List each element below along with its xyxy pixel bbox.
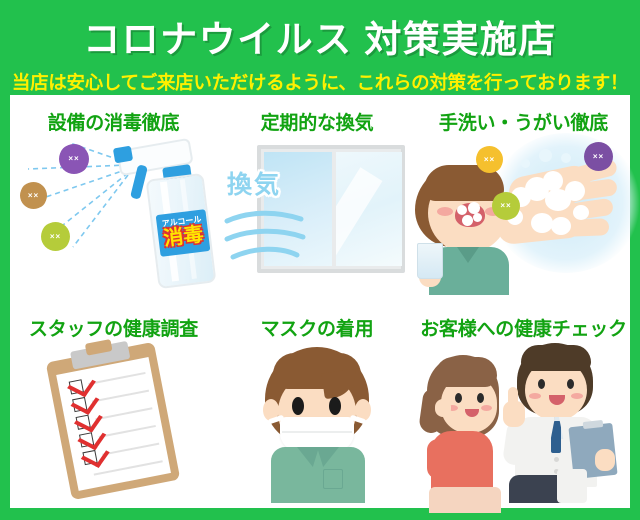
section-title-disinfection: 設備の消毒徹底 <box>10 108 217 135</box>
illustration-woman-and-doctor <box>417 343 630 503</box>
doctor-fringe <box>521 345 591 371</box>
germ-green-hand: ×× <box>495 195 517 217</box>
illustration-window: 換気 <box>217 137 417 297</box>
paper-line <box>95 407 152 420</box>
person-shirt <box>271 447 365 503</box>
foam-float-2 <box>561 153 571 163</box>
hand-lower-fingers-2 <box>565 218 610 237</box>
germ-yellow: ×× <box>479 149 500 170</box>
section-title-mask: マスクの着用 <box>217 314 417 341</box>
germ-purple: ×× <box>62 147 86 171</box>
illustration-clipboard <box>10 343 217 503</box>
doctor-eye-left <box>538 379 545 389</box>
poster-header: コロナウイルス 対策実施店 当店は安心してご来店いただけるように、これらの対策を… <box>0 0 640 95</box>
bottle-label: アルコール 消毒 <box>156 209 211 257</box>
foam-float-1 <box>539 149 552 162</box>
gargle-bubble-1 <box>457 205 467 215</box>
germ-face: ×× <box>495 195 517 217</box>
paper-line <box>102 443 159 456</box>
foam-3 <box>543 171 563 191</box>
illustration-handwashing: ×× ×× ×× <box>417 137 630 297</box>
germ-face: ×× <box>62 147 86 171</box>
woman-fringe <box>435 357 497 387</box>
section-title-staff-health: スタッフの健康調査 <box>10 314 217 341</box>
paper-line <box>99 425 156 438</box>
germ-face: ×× <box>44 225 67 248</box>
section-handwashing: 手洗い・うがい徹底 <box>417 95 630 301</box>
window-pane-right <box>336 152 402 266</box>
section-ventilation: 定期的な換気 換気 <box>217 95 417 301</box>
page-subtitle: 当店は安心してご来店いただけるように、これらの対策を行っております！ <box>12 69 628 95</box>
doctor-cheek-left <box>529 393 541 399</box>
section-customer-check: お客様への健康チェック <box>417 301 630 507</box>
foam-9 <box>573 205 589 220</box>
paper-line <box>92 390 149 403</box>
water-glass <box>417 243 443 279</box>
doctor-coat-tail <box>557 469 587 503</box>
foam-7 <box>551 217 571 235</box>
germ-face: ×× <box>587 145 610 168</box>
person-eye-right <box>329 397 341 415</box>
man-cheek-left <box>437 207 453 216</box>
bottle-nozzle <box>113 146 133 164</box>
foam-6 <box>531 213 553 233</box>
woman-legs <box>429 487 501 513</box>
illustration-mask-person <box>217 343 417 503</box>
doctor-cheek-right <box>571 393 583 399</box>
germ-brown: ×× <box>23 185 44 206</box>
section-staff-health: スタッフの健康調査 <box>10 301 217 507</box>
shirt-pocket <box>323 469 343 489</box>
window-text-kanki: 換気 <box>227 165 281 201</box>
section-title-handwashing: 手洗い・うがい徹底 <box>417 108 630 135</box>
section-title-customer-check: お客様への健康チェック <box>417 314 630 341</box>
face-mask <box>280 417 354 451</box>
woman-arm <box>427 439 449 479</box>
germ-purple-hand: ×× <box>587 145 610 168</box>
section-row-2: スタッフの健康調査 <box>10 301 630 507</box>
woman-hand <box>435 399 451 417</box>
germ-green: ×× <box>44 225 67 248</box>
doctor-eye-right <box>567 379 574 389</box>
content-panel: 設備の消毒徹底 ×× <box>10 95 630 508</box>
doctor-index-finger <box>508 387 518 409</box>
clipboard <box>46 342 181 500</box>
person-eye-left <box>292 397 304 415</box>
spray-bottle: アルコール 消毒 <box>118 142 213 292</box>
doctor-hand-clipboard <box>595 449 615 471</box>
paper-line <box>88 372 145 385</box>
checkbox-checked <box>82 450 97 465</box>
coat-button-1 <box>554 457 559 462</box>
section-mask: マスクの着用 <box>217 301 417 507</box>
mask-fold <box>282 431 352 433</box>
germ-face: ×× <box>479 149 500 170</box>
paper-line <box>94 460 163 475</box>
germ-face: ×× <box>23 185 44 206</box>
poster-root: コロナウイルス 対策実施店 当店は安心してご来店いただけるように、これらの対策を… <box>0 0 640 520</box>
gargle-bubble-4 <box>473 213 482 222</box>
section-title-ventilation: 定期的な換気 <box>217 108 417 135</box>
woman-eye-left <box>455 393 462 403</box>
section-row-1: 設備の消毒徹底 ×× <box>10 95 630 301</box>
page-title: コロナウイルス 対策実施店 <box>83 9 557 63</box>
section-disinfection: 設備の消毒徹底 ×× <box>10 95 217 301</box>
man-hair-top <box>424 165 504 201</box>
airflow-lines <box>223 209 319 269</box>
foam-float-3 <box>521 159 530 168</box>
bottle-label-disinfect: 消毒 <box>162 225 204 251</box>
woman-eye-right <box>477 393 484 403</box>
woman-cheek-right <box>481 405 492 411</box>
illustration-spray-bottle: ×× ×× ×× <box>10 137 217 297</box>
gargle-bubble-3 <box>462 215 473 226</box>
foam-5 <box>565 181 585 201</box>
